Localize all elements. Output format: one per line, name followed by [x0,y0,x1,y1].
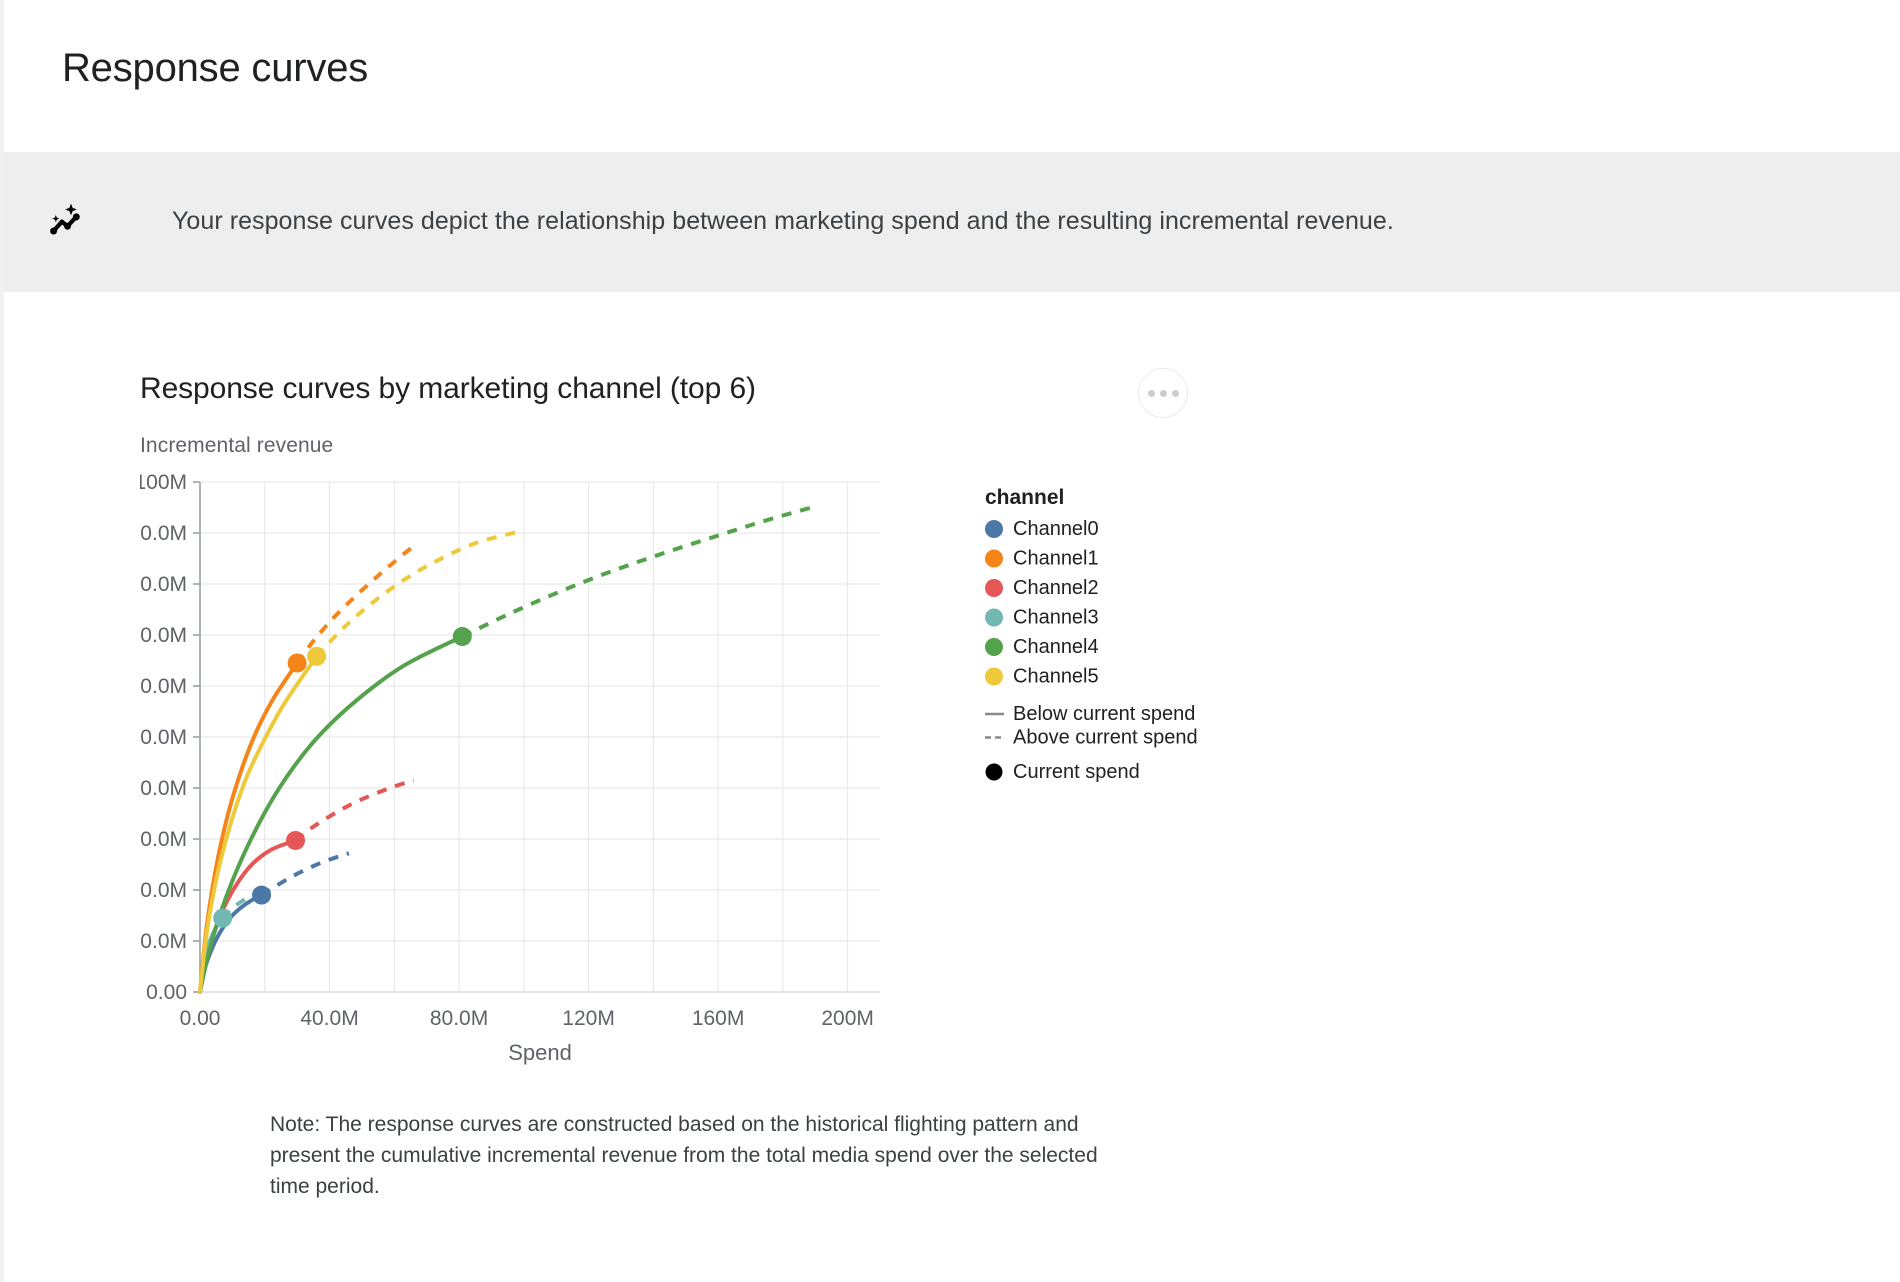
insights-sparkle-icon [46,199,92,245]
y-tick-label: 40.0M [140,777,187,800]
response-curves-chart: 0.0010.0M20.0M30.0M40.0M50.0M60.0M70.0M8… [140,472,1390,1092]
legend-item-solid[interactable]: Below current spend [1013,703,1195,725]
series-line-dashed-channel4 [462,506,815,636]
more-dot-icon [1172,390,1179,397]
y-tick-label: 90.0M [140,522,187,545]
chart-note: Note: The response curves are constructe… [270,1110,1100,1203]
legend-item-channel3[interactable]: Channel3 [1013,607,1099,629]
x-axis-title: Spend [508,1040,572,1065]
response-curves-card: Response curves by marketing channel (to… [4,292,1900,1203]
card-header: Response curves by marketing channel (to… [140,372,1240,418]
legend-swatch-channel5[interactable] [985,668,1003,686]
y-tick-label: 30.0M [140,828,187,851]
y-tick-label: 80.0M [140,573,187,596]
more-dot-icon [1148,390,1155,397]
y-tick-label: 0.00 [146,981,187,1004]
x-tick-label: 120M [562,1007,615,1030]
legend-item-channel5[interactable]: Channel5 [1013,666,1099,688]
legend-item-current-spend[interactable]: Current spend [1013,761,1140,783]
y-axis-caption: Incremental revenue [140,434,1900,458]
y-tick-label: 10.0M [140,930,187,953]
y-tick-label: 100M [140,472,187,494]
current-spend-marker-channel5[interactable] [307,647,326,666]
current-spend-marker-channel3[interactable] [213,909,232,928]
x-tick-label: 80.0M [430,1007,488,1030]
legend-swatch-channel0[interactable] [985,520,1003,538]
series-line-dashed-channel1 [297,543,417,663]
legend-marker-current-spend[interactable] [986,764,1003,781]
x-tick-label: 160M [692,1007,745,1030]
page-title: Response curves [62,46,1900,90]
series-line-dashed-channel5 [317,532,518,656]
banner-text: Your response curves depict the relation… [172,205,1394,239]
current-spend-marker-channel2[interactable] [286,831,305,850]
page-header: Response curves [4,0,1900,152]
more-dot-icon [1160,390,1167,397]
y-tick-label: 50.0M [140,726,187,749]
current-spend-marker-channel1[interactable] [288,654,307,673]
chart-title: Response curves by marketing channel (to… [140,372,756,406]
y-tick-label: 20.0M [140,879,187,902]
legend-swatch-channel3[interactable] [985,609,1003,627]
info-banner: Your response curves depict the relation… [4,152,1900,292]
legend-item-channel0[interactable]: Channel0 [1013,518,1099,540]
legend-swatch-channel4[interactable] [985,638,1003,656]
y-tick-label: 70.0M [140,624,187,647]
current-spend-marker-channel0[interactable] [252,886,271,905]
legend-title: channel [985,486,1064,509]
series-line-dashed-channel0 [262,853,349,895]
series-line-dashed-channel2 [296,780,414,840]
y-tick-label: 60.0M [140,675,187,698]
legend-item-channel2[interactable]: Channel2 [1013,577,1099,599]
legend-item-channel4[interactable]: Channel4 [1013,636,1099,658]
chart-area: 0.0010.0M20.0M30.0M40.0M50.0M60.0M70.0M8… [140,472,1900,1092]
page-frame: Response curves Your response curves dep… [0,0,1900,1282]
current-spend-marker-channel4[interactable] [453,627,472,646]
x-tick-label: 40.0M [300,1007,358,1030]
more-options-button[interactable] [1138,368,1188,418]
legend-item-channel1[interactable]: Channel1 [1013,548,1099,570]
x-tick-label: 0.00 [180,1007,221,1030]
legend-swatch-channel1[interactable] [985,550,1003,568]
legend-item-dashed[interactable]: Above current spend [1013,727,1198,749]
legend-swatch-channel2[interactable] [985,579,1003,597]
x-tick-label: 200M [821,1007,874,1030]
